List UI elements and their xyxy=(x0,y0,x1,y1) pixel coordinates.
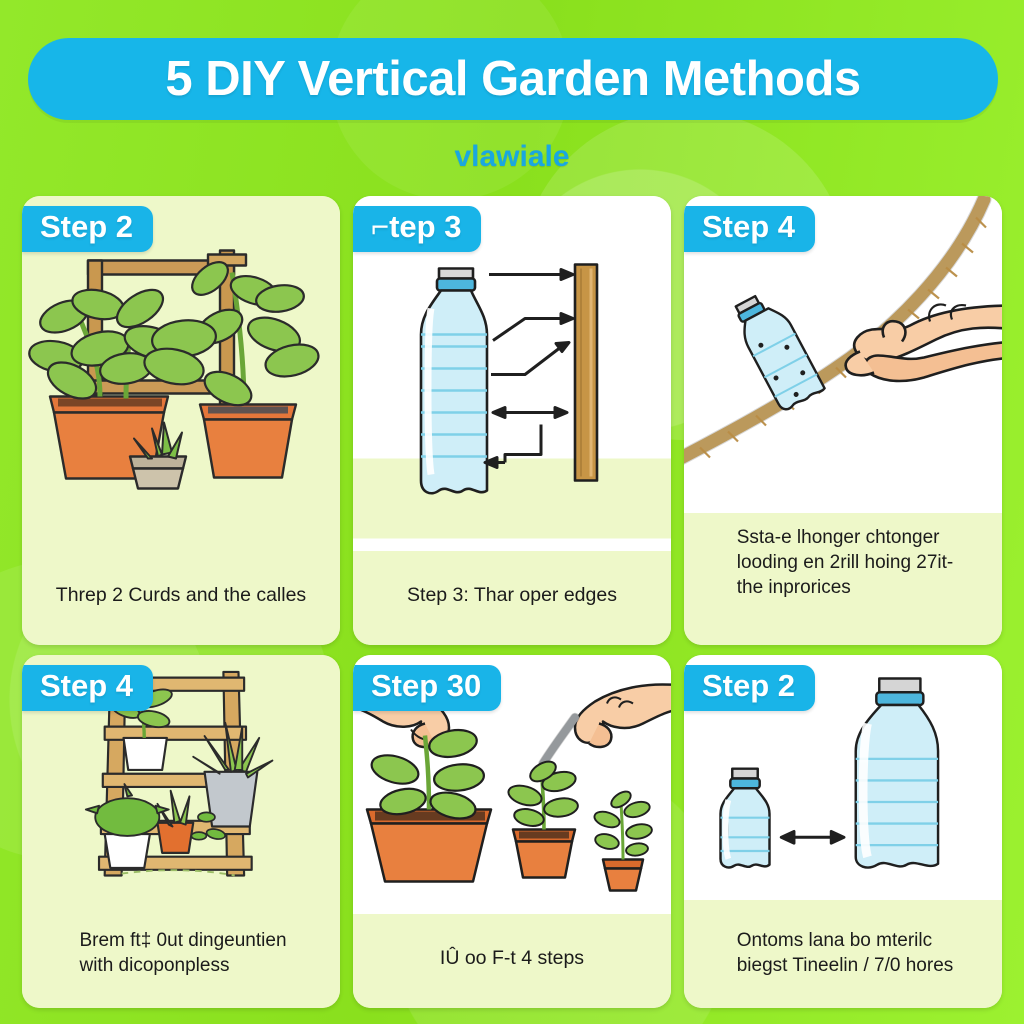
infographic-poster: 5 DIY Vertical Garden Methods vlawiale S… xyxy=(0,0,1024,1024)
step-caption-6: Ontoms lana bo mterilc biegst Tineelin /… xyxy=(684,900,1002,1008)
step-caption-4: Brem ft‡ 0ut dingeuntien with dicoponple… xyxy=(22,900,340,1008)
step-badge-1: Step 2 xyxy=(22,206,153,252)
step-badge-2: ⌐tep 3 xyxy=(353,206,481,252)
step-badge-3: Step 4 xyxy=(684,206,815,252)
caption-line: looding en 2rill hoing 27it- xyxy=(737,550,954,575)
step-card-2[interactable]: ⌐tep 3 xyxy=(353,196,671,645)
caption-line: Ssta-e lhonger chtonger xyxy=(737,525,954,550)
caption-line: the inprorices xyxy=(737,575,954,600)
caption-line: biegst Tineelin / 7/0 hores xyxy=(737,953,954,978)
step-caption-5: IÛ oo F-t 4 steps xyxy=(353,914,671,1008)
page-subtitle: vlawiale xyxy=(0,140,1024,174)
step-caption-1: Threp 2 Curds and the calles xyxy=(22,551,340,645)
title-banner: 5 DIY Vertical Garden Methods xyxy=(28,38,998,120)
page-title: 5 DIY Vertical Garden Methods xyxy=(165,51,860,107)
steps-grid: Step 2 xyxy=(22,196,1002,1008)
step-caption-2: Step 3: Thar oper edges xyxy=(353,551,671,645)
step-card-4[interactable]: Step 4 xyxy=(22,655,340,1008)
step-card-3[interactable]: Step 4 xyxy=(684,196,1002,645)
step-card-6[interactable]: Step 2 xyxy=(684,655,1002,1008)
step-badge-4: Step 4 xyxy=(22,665,153,711)
caption-line: Brem ft‡ 0ut dingeuntien xyxy=(79,928,286,953)
step-caption-3: Ssta-e lhonger chtonger looding en 2rill… xyxy=(684,513,1002,645)
caption-line: with dicoponpless xyxy=(79,953,286,978)
step-card-5[interactable]: Step 30 xyxy=(353,655,671,1008)
step-card-1[interactable]: Step 2 xyxy=(22,196,340,645)
step-badge-6: Step 2 xyxy=(684,665,815,711)
caption-line: Ontoms lana bo mterilc xyxy=(737,928,954,953)
step-badge-5: Step 30 xyxy=(353,665,501,711)
